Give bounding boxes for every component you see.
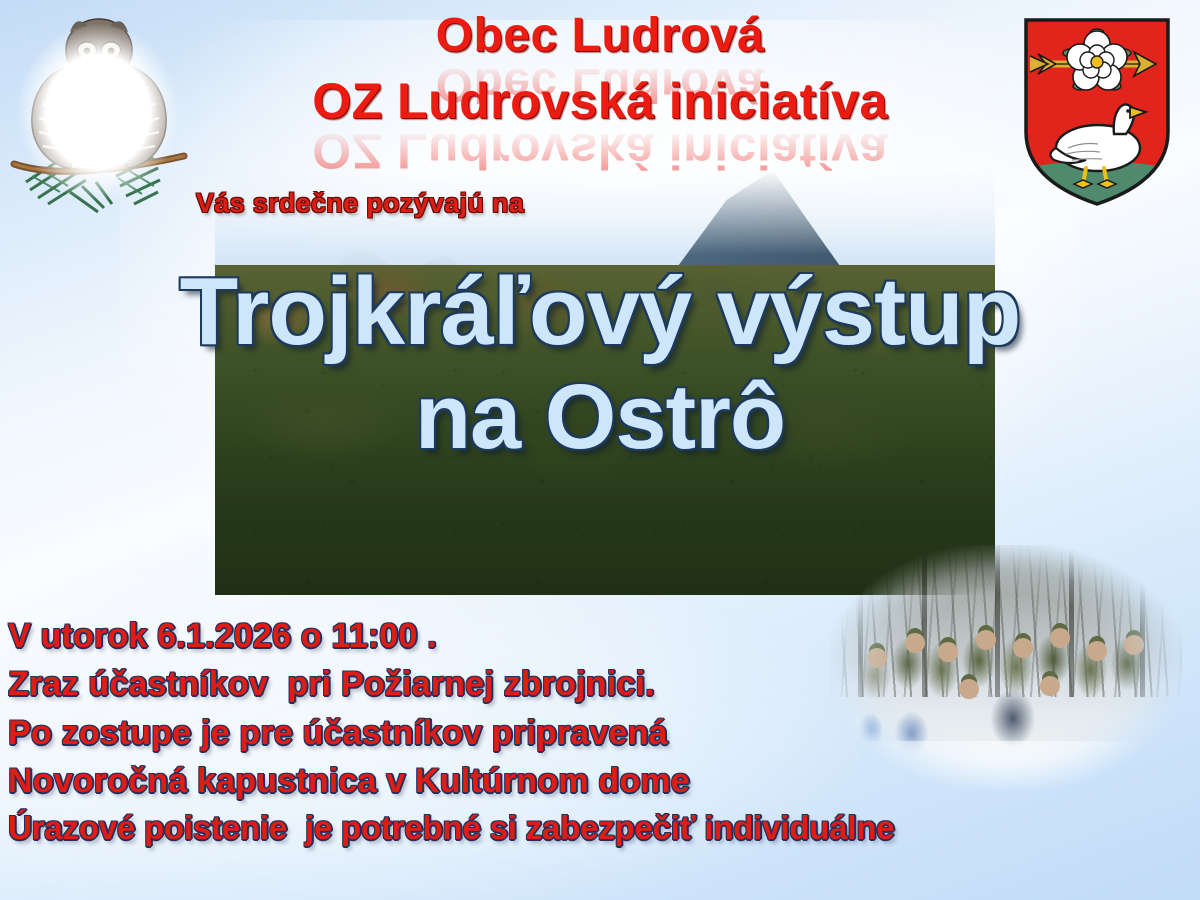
- emblem-white-backing: [14, 20, 182, 204]
- detail-line-date: V utorok 6.1.2026 o 11:00 .: [8, 612, 1193, 660]
- detail-line-food: Novoročná kapustnica v Kultúrnom dome: [8, 757, 1193, 805]
- event-details: V utorok 6.1.2026 o 11:00 . Zraz účastní…: [8, 612, 1193, 852]
- detail-line-after: Po zostupe je pre účastníkov pripravená: [8, 709, 1193, 757]
- coat-of-arms-graphic: [1016, 12, 1178, 212]
- owl-with-shield-emblem: [8, 6, 190, 218]
- ludrova-coat-of-arms: [1016, 12, 1178, 212]
- invitation-line: Vás srdečne pozývajú na: [196, 188, 524, 219]
- detail-line-meeting: Zraz účastníkov pri Požiarnej zbrojnici.: [8, 660, 1193, 708]
- ostro-mountain-photo: [215, 50, 995, 595]
- detail-line-insurance: Úrazové poistenie je potrebné si zabezpe…: [8, 805, 1193, 852]
- event-poster: Obec Ludrová Obec Ludrová OZ Ludrovská i…: [0, 0, 1200, 900]
